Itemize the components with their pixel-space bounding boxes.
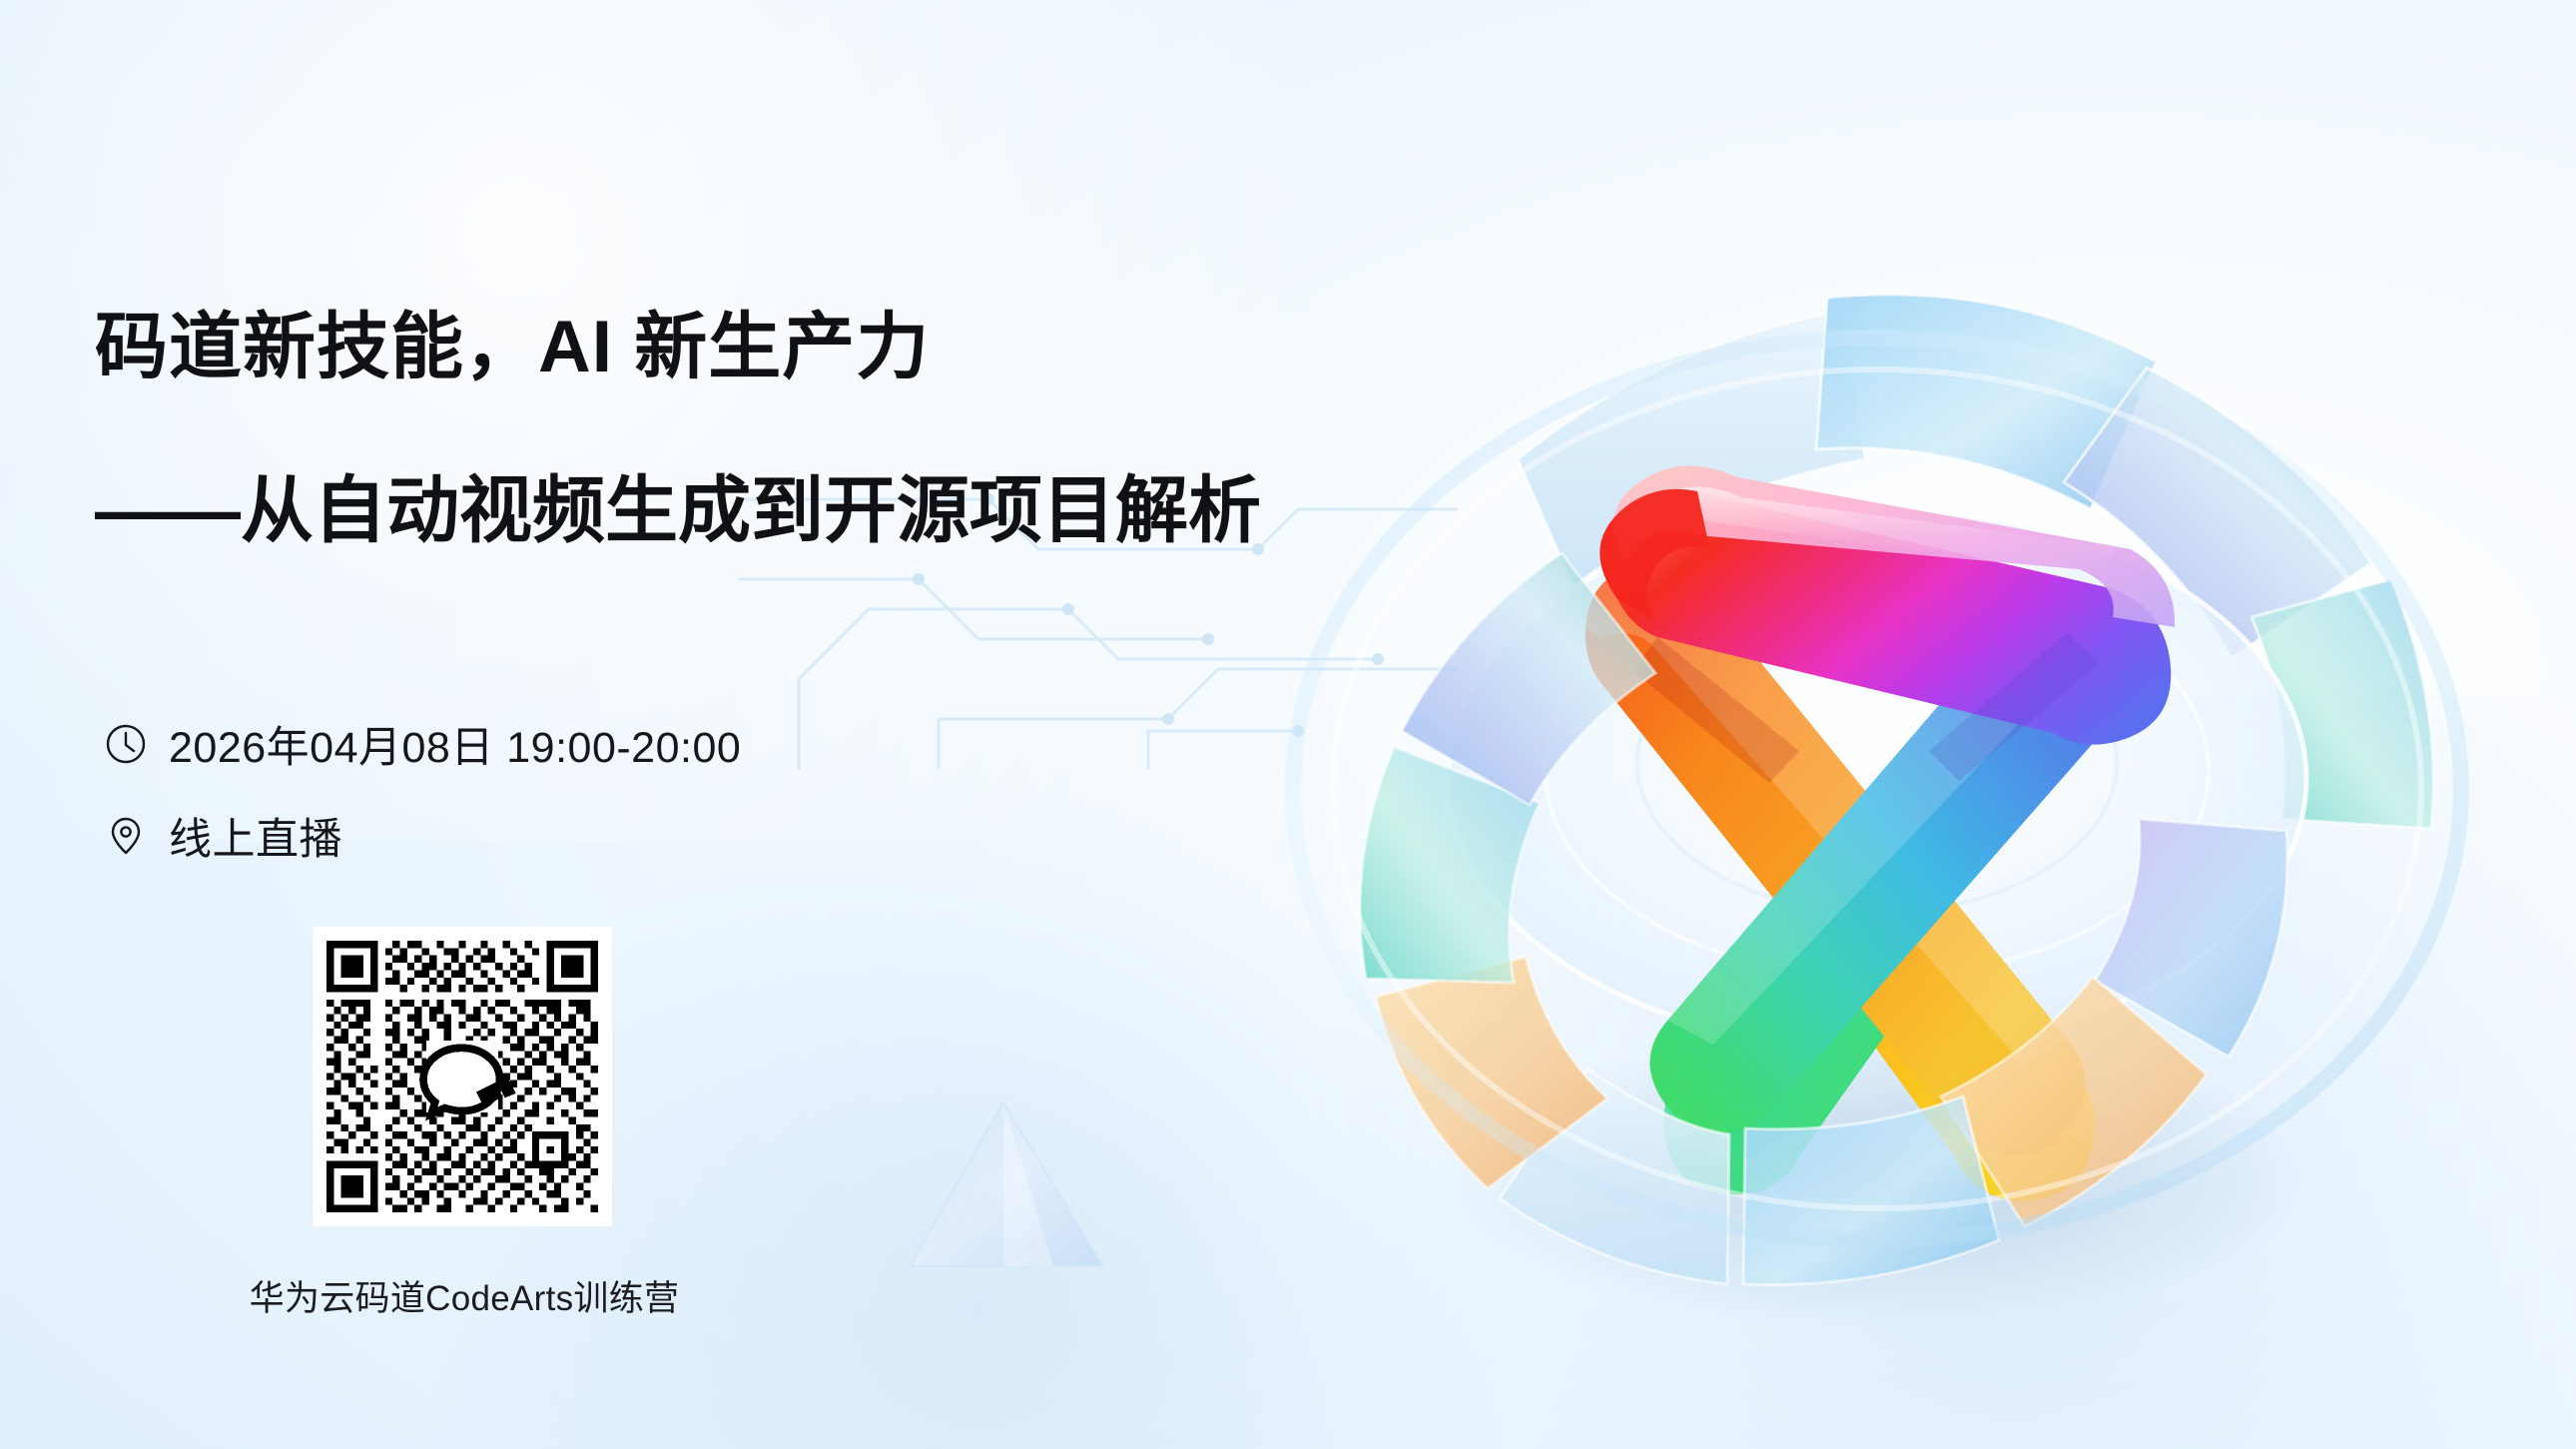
qr-code-caption: 华为云码道CodeArts训练营 <box>235 1270 694 1321</box>
event-venue-text: 线上直播 <box>169 805 342 867</box>
ribbon-mark <box>1586 465 2175 1200</box>
codearts-infinity-ribbon-artwork <box>1188 160 2576 1449</box>
page-title-line-1: 码道新技能，AI 新生产力 <box>95 288 930 393</box>
clock-icon <box>105 723 147 765</box>
promo-banner: 码道新技能，AI 新生产力 ——从自动视频生成到开源项目解析 2026年04月0… <box>0 0 2576 1449</box>
event-venue-row: 线上直播 <box>105 805 342 867</box>
event-date-text: 2026年04月08日 19:00-20:00 <box>169 713 741 775</box>
page-title-line-2: ——从自动视频生成到开源项目解析 <box>95 451 1261 557</box>
content-column: 码道新技能，AI 新生产力 ——从自动视频生成到开源项目解析 2026年04月0… <box>95 0 1143 1449</box>
event-date-row: 2026年04月08日 19:00-20:00 <box>105 713 741 775</box>
qr-code-image <box>326 941 598 1212</box>
qr-code[interactable] <box>313 927 612 1226</box>
location-pin-icon <box>105 815 147 857</box>
background-glow-bottom-right <box>1133 695 2576 1449</box>
